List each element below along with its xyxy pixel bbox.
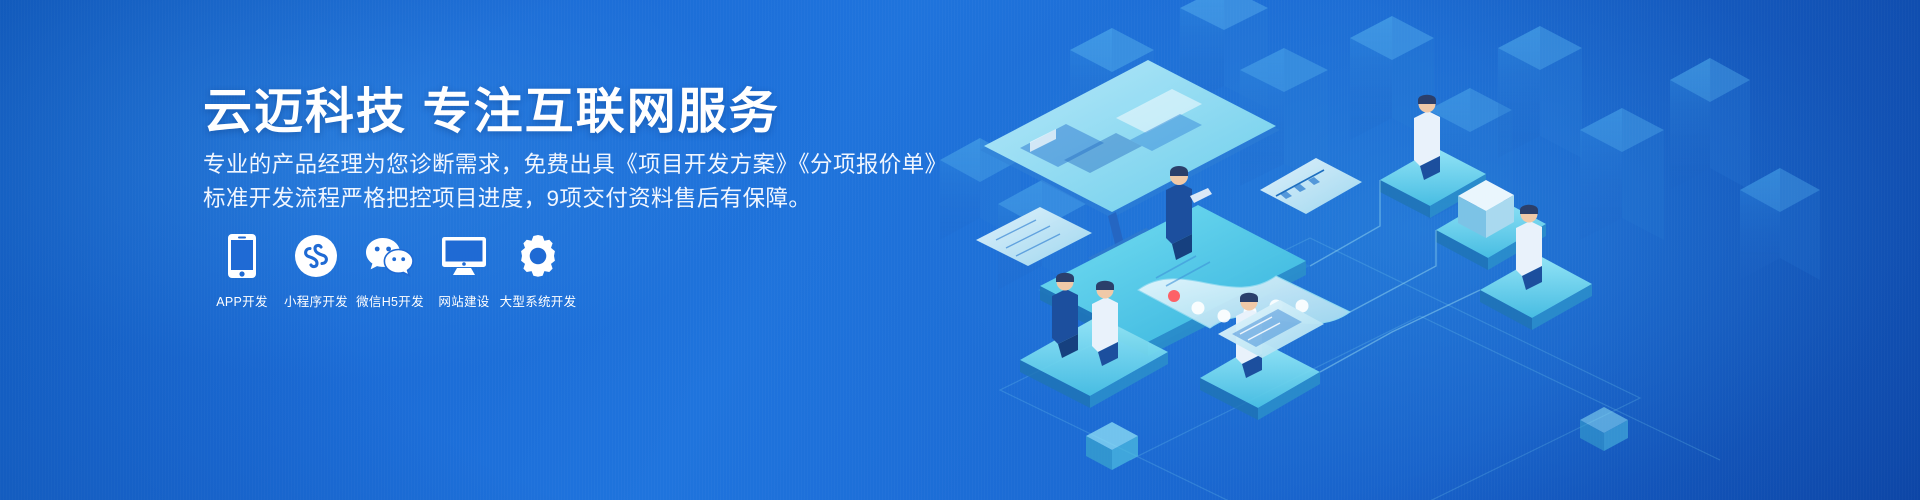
hero-banner: 云迈科技 专注互联网服务 专业的产品经理为您诊断需求，免费出具《项目开发方案》《… [0,0,1920,500]
service-icon-list: APP开发 小程序开发 [205,232,575,310]
service-label: APP开发 [216,291,268,310]
service-label: 小程序开发 [284,291,348,310]
gear-icon [516,232,560,280]
page-title: 云迈科技 专注互联网服务 [203,72,780,143]
monitor-icon [441,232,487,280]
subtitle-line-2: 标准开发流程严格把控项目进度，9项交付资料售后有保障。 [203,181,811,213]
service-label: 网站建设 [438,291,489,310]
service-item-miniprogram[interactable]: 小程序开发 [279,232,353,310]
service-item-website[interactable]: 网站建设 [427,232,501,310]
service-label: 大型系统开发 [500,291,577,310]
connector-lines [1310,180,1480,372]
service-item-wechat[interactable]: 微信H5开发 [353,232,427,310]
service-label: 微信H5开发 [356,291,424,310]
subtitle-line-1: 专业的产品经理为您诊断需求，免费出具《项目开发方案》《分项报价单》 [203,147,947,179]
mini-program-icon [294,232,338,280]
floating-cube-bottom-2 [1580,407,1628,451]
service-item-system[interactable]: 大型系统开发 [501,232,575,310]
wechat-icon [365,232,415,280]
mobile-phone-icon [227,232,257,280]
service-item-app[interactable]: APP开发 [205,232,279,310]
banner-content: 云迈科技 专注互联网服务 专业的产品经理为您诊断需求，免费出具《项目开发方案》《… [203,0,1103,500]
